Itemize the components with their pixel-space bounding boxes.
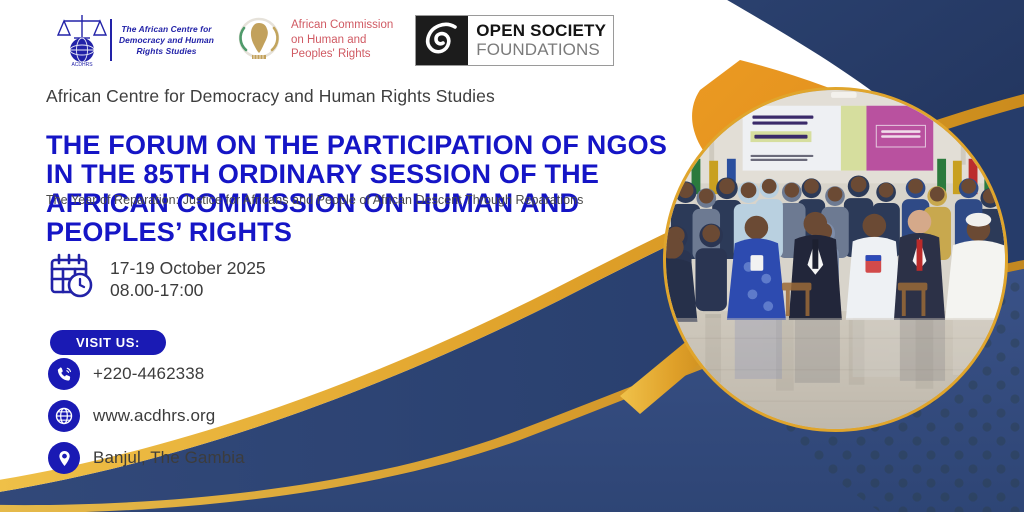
contact-location[interactable]: Banjul, The Gambia [48, 442, 245, 474]
location-name: Banjul, The Gambia [93, 448, 245, 468]
acdhrs-logo-text: The African Centre for Democracy and Hum… [119, 24, 214, 57]
page-subtitle: The Year of Reparation: Justice for Afri… [46, 193, 583, 207]
achpr-logo: African Commission on Human and Peoples'… [236, 16, 393, 64]
website-url: www.acdhrs.org [93, 406, 215, 426]
event-date: 17-19 October 2025 [110, 257, 266, 279]
osf-spiral-icon [416, 16, 468, 65]
phone-icon [48, 358, 80, 390]
open-society-foundations-logo: OPEN SOCIETY FOUNDATIONS [415, 15, 614, 66]
page-title: THE FORUM ON THE PARTICIPATION OF NGOS I… [46, 131, 686, 247]
achpr-logo-text: African Commission on Human and Peoples'… [291, 18, 393, 62]
logo-strip: ACDHRS The African Centre for Democracy … [56, 12, 614, 68]
event-datetime-text: 17-19 October 2025 08.00-17:00 [110, 257, 266, 301]
acdhrs-logo: ACDHRS The African Centre for Democracy … [56, 12, 214, 68]
phone-number: +220-4462338 [93, 364, 204, 384]
poster-canvas: ACDHRS The African Centre for Democracy … [0, 0, 1024, 512]
event-time: 08.00-17:00 [110, 279, 266, 301]
calendar-clock-icon [48, 252, 96, 305]
visit-us-badge: VISIT US: [50, 330, 166, 355]
scales-and-globe-icon: ACDHRS [56, 12, 108, 68]
contact-list: +220-4462338 www.acdhrs.org [48, 358, 245, 474]
event-datetime: 17-19 October 2025 08.00-17:00 [48, 252, 266, 305]
logo-divider [110, 19, 112, 61]
group-photo-circle [663, 87, 1008, 432]
african-union-map-icon [236, 16, 282, 64]
contact-phone[interactable]: +220-4462338 [48, 358, 245, 390]
organisation-name: African Centre for Democracy and Human R… [46, 86, 495, 107]
osf-line-2: FOUNDATIONS [476, 40, 606, 59]
contact-website[interactable]: www.acdhrs.org [48, 400, 245, 432]
svg-text:ACDHRS: ACDHRS [71, 62, 93, 68]
globe-icon [48, 400, 80, 432]
osf-line-1: OPEN SOCIETY [476, 21, 606, 40]
location-pin-icon [48, 442, 80, 474]
